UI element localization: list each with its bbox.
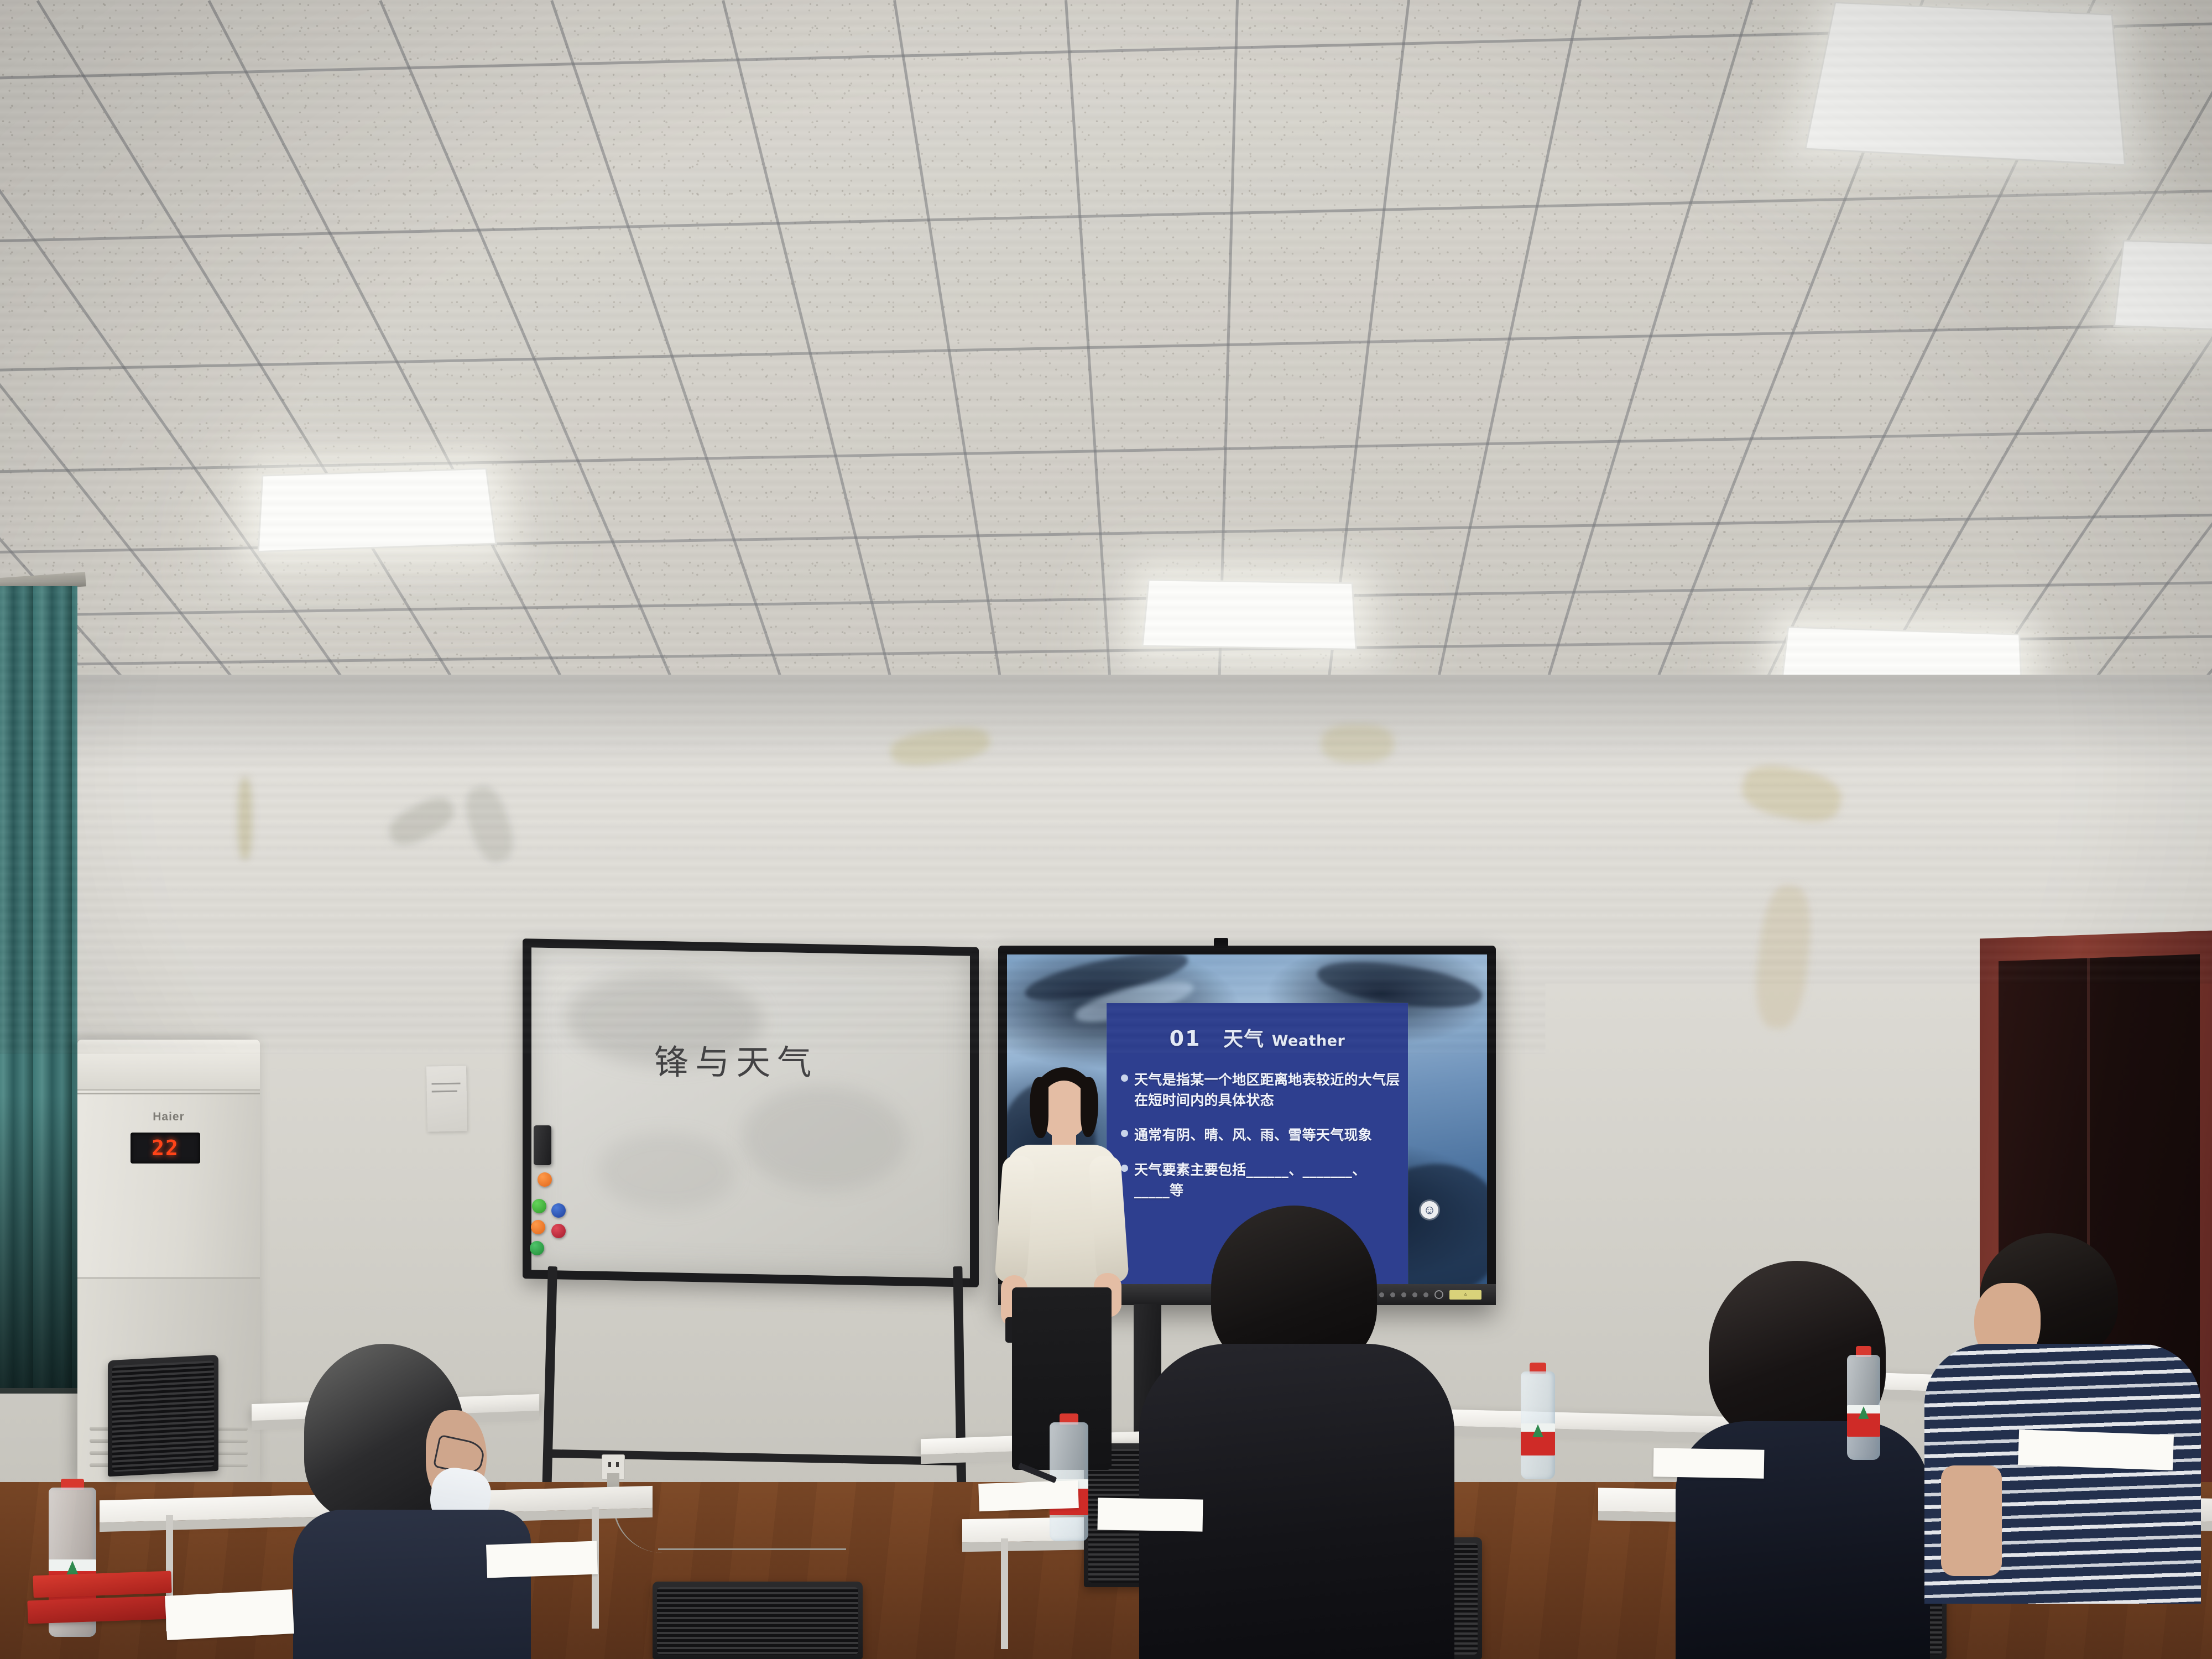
paper-sheet[interactable] xyxy=(978,1480,1079,1511)
wall-notice xyxy=(426,1066,467,1131)
paper-sheet[interactable] xyxy=(1098,1498,1203,1531)
water-bottle[interactable] xyxy=(1847,1355,1880,1460)
backpack-zipper[interactable] xyxy=(1509,1655,1647,1659)
whiteboard-magnet[interactable] xyxy=(532,1199,546,1213)
curtain-shadow xyxy=(0,1095,77,1394)
slide-bullet-item: 通常有阴、晴、风、雨、雪等天气现象 xyxy=(1121,1125,1400,1145)
ac-brand-label: Haier xyxy=(77,1110,260,1124)
socket-hole xyxy=(608,1462,611,1467)
classroom-scene: Haier 22 锋与天气 xyxy=(0,0,2212,1659)
whiteboard-magnet[interactable] xyxy=(531,1220,545,1234)
whiteboard-handwriting: 锋与天气 xyxy=(614,1034,858,1084)
wall-top-shadow xyxy=(0,675,2212,769)
display-mount xyxy=(1214,938,1228,948)
presenter-hair-side xyxy=(1081,1077,1098,1137)
presenter-hair-side xyxy=(1030,1077,1048,1138)
ceiling-light-panel xyxy=(257,468,497,552)
chair-mesh-back xyxy=(657,1587,858,1655)
paper-sheet[interactable] xyxy=(486,1541,598,1578)
whiteboard-magnet[interactable] xyxy=(551,1203,566,1218)
attendee-far-right xyxy=(1908,1233,2212,1620)
slide-bullet-item: 天气要素主要包括______、_______、_____等 xyxy=(1121,1160,1400,1201)
ac-seam xyxy=(77,1093,260,1094)
chair[interactable] xyxy=(108,1355,218,1477)
slide-title: 01 天气 Weather xyxy=(1107,1023,1408,1052)
slide-section-number: 01 xyxy=(1170,1026,1201,1051)
paper-sheet[interactable] xyxy=(1653,1448,1765,1478)
bullet-text: 通常有阴、晴、风、雨、雪等天气现象 xyxy=(1134,1125,1372,1145)
bullet-text: 天气要素主要包括______、_______、_____等 xyxy=(1134,1160,1400,1201)
notice-line xyxy=(432,1091,457,1093)
ac-top-panel xyxy=(77,1040,260,1091)
chair[interactable] xyxy=(653,1582,863,1659)
paper-sheet[interactable] xyxy=(165,1589,294,1640)
ceiling-light-panel xyxy=(2113,240,2212,333)
ac-display: 22 xyxy=(131,1133,200,1164)
attendee-arm xyxy=(1941,1465,2002,1576)
wall-stain xyxy=(1322,724,1394,763)
whiteboard-magnet[interactable] xyxy=(538,1172,552,1187)
whiteboard-smudge xyxy=(598,1131,736,1212)
whiteboard[interactable]: 锋与天气 xyxy=(523,938,979,1287)
backpack[interactable] xyxy=(1465,1554,1736,1659)
paper-sheet[interactable] xyxy=(1448,1491,1577,1529)
power-cable xyxy=(658,1548,846,1568)
socket-hole xyxy=(616,1462,619,1467)
chair-mesh-back xyxy=(112,1360,214,1472)
attendee-center xyxy=(1123,1206,1477,1659)
ac-temperature-value: 22 xyxy=(152,1136,179,1160)
slide-bullet-item: 天气是指某一个地区距离地表较近的大气层在短时间内的具体状态 xyxy=(1121,1070,1400,1110)
ceiling-light-panel xyxy=(1141,579,1357,650)
slide-bullet-list: 天气是指某一个地区距离地表较近的大气层在短时间内的具体状态 通常有阴、晴、风、雨… xyxy=(1121,1070,1400,1215)
ceiling-light-panel xyxy=(1804,2,2126,166)
whiteboard-smudge xyxy=(742,1084,907,1193)
attendee-torso xyxy=(293,1510,531,1659)
slide-title-en: Weather xyxy=(1272,1032,1345,1050)
notice-line xyxy=(431,1083,460,1085)
slide-title-cn: 天气 xyxy=(1223,1028,1264,1051)
water-bottle[interactable] xyxy=(1521,1371,1555,1479)
whiteboard-surface[interactable]: 锋与天气 xyxy=(531,947,970,1278)
bullet-text: 天气是指某一个地区距离地表较近的大气层在短时间内的具体状态 xyxy=(1134,1070,1400,1110)
wall-stain xyxy=(238,777,252,860)
whiteboard-eraser[interactable] xyxy=(534,1125,551,1165)
desk-leg xyxy=(1001,1538,1008,1649)
backpack-sticker xyxy=(1496,1576,1600,1649)
paper-sheet[interactable] xyxy=(2018,1430,2174,1470)
whiteboard-magnet[interactable] xyxy=(530,1241,544,1255)
whiteboard-leg xyxy=(953,1266,967,1504)
whiteboard-magnet[interactable] xyxy=(551,1224,566,1238)
